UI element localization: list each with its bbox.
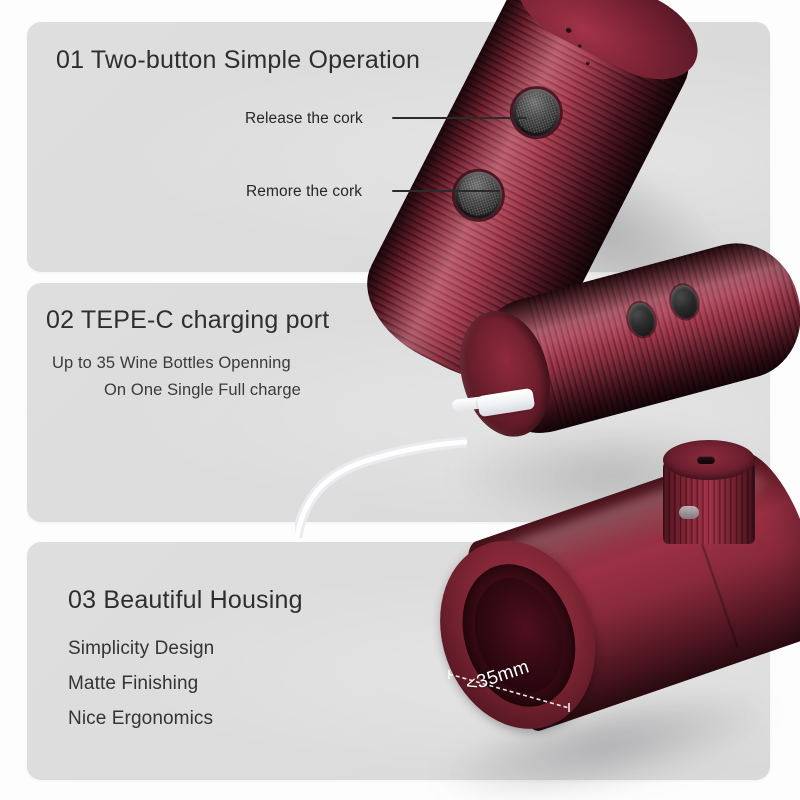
panel-01-headline: 01 Two-button Simple Operation: [56, 46, 420, 75]
panel-02-headline: 02 TEPE-C charging port: [46, 306, 329, 335]
callout-leader-line-remove: [392, 190, 500, 192]
callout-label-remove-cork: Remore the cork: [246, 183, 362, 201]
panel-02-subline-1: Up to 35 Wine Bottles Openning: [52, 354, 291, 373]
infographic-stage: 01 Two-button Simple Operation Release t…: [0, 0, 800, 800]
usb-c-port-slot-icon: [697, 456, 715, 464]
charging-port-inset: [663, 440, 755, 540]
panel-03-bullet-2: Matte Finishing: [68, 673, 198, 695]
inset-detail-chip: [679, 506, 699, 519]
panel-02-subline-2: On One Single Full charge: [104, 381, 301, 400]
panel-03-bullet-3: Nice Ergonomics: [68, 708, 213, 730]
panel-03-headline: 03 Beautiful Housing: [68, 586, 303, 615]
callout-leader-line-release: [392, 117, 527, 119]
callout-label-release-cork: Release the cork: [245, 110, 363, 128]
panel-03-bullet-1: Simplicity Design: [68, 638, 214, 660]
